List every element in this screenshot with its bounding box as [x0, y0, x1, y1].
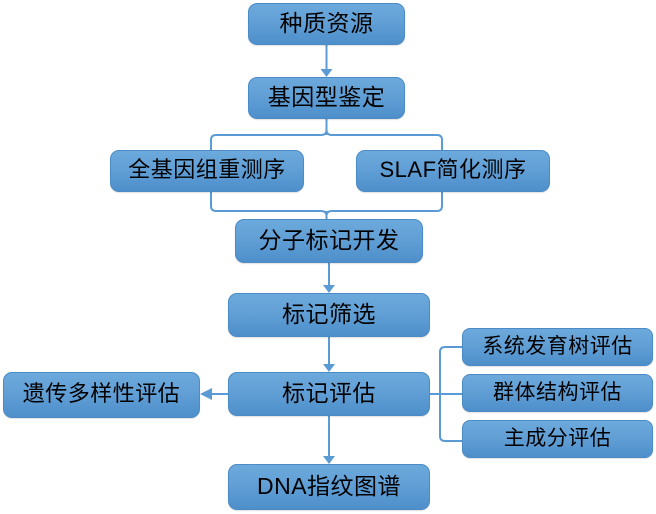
node-population-structure-evaluation[interactable]: 群体结构评估 — [462, 374, 653, 412]
node-genotyping[interactable]: 基因型鉴定 — [248, 77, 405, 119]
node-phylogenetic-tree-evaluation-label: 系统发育树评估 — [482, 336, 633, 359]
edge-markerdev-to-markersel — [323, 263, 335, 293]
node-germplasm-label: 种质资源 — [280, 12, 374, 37]
node-principal-component-evaluation[interactable]: 主成分评估 — [462, 420, 653, 458]
node-molecular-marker-development[interactable]: 分子标记开发 — [235, 219, 423, 263]
edge-germplasm-to-genotyping — [321, 45, 333, 77]
node-marker-screening[interactable]: 标记筛选 — [228, 293, 430, 337]
node-genetic-diversity-evaluation[interactable]: 遗传多样性评估 — [3, 372, 200, 418]
node-phylogenetic-tree-evaluation[interactable]: 系统发育树评估 — [462, 328, 653, 366]
edge-markersel-to-markereval — [323, 337, 335, 372]
node-marker-screening-label: 标记筛选 — [282, 303, 376, 328]
node-dna-fingerprint-label: DNA指纹图谱 — [257, 475, 401, 500]
edge-merge-to-marker-dev — [211, 192, 442, 219]
node-whole-genome-resequencing-label: 全基因组重测序 — [128, 159, 286, 183]
node-germplasm[interactable]: 种质资源 — [248, 3, 405, 45]
node-slaf-sequencing[interactable]: SLAF简化测序 — [356, 150, 550, 192]
node-dna-fingerprint[interactable]: DNA指纹图谱 — [228, 464, 430, 510]
edge-markereval-to-fingerprint — [323, 416, 335, 464]
node-slaf-sequencing-label: SLAF简化测序 — [379, 159, 526, 183]
node-whole-genome-resequencing[interactable]: 全基因组重测序 — [110, 150, 304, 192]
flowchart-canvas: 种质资源 基因型鉴定 全基因组重测序 SLAF简化测序 分子标记开发 标记筛选 … — [0, 0, 656, 514]
node-marker-evaluation[interactable]: 标记评估 — [228, 372, 430, 416]
node-molecular-marker-development-label: 分子标记开发 — [259, 229, 400, 254]
node-principal-component-evaluation-label: 主成分评估 — [504, 428, 612, 451]
node-genotyping-label: 基因型鉴定 — [268, 86, 386, 111]
node-genetic-diversity-evaluation-label: 遗传多样性评估 — [23, 383, 181, 407]
edge-markereval-to-diversity — [200, 388, 228, 400]
node-population-structure-evaluation-label: 群体结构评估 — [493, 382, 622, 405]
edge-markereval-to-right-bracket — [430, 347, 462, 441]
edge-genotyping-split — [211, 119, 442, 150]
node-marker-evaluation-label: 标记评估 — [282, 382, 376, 407]
